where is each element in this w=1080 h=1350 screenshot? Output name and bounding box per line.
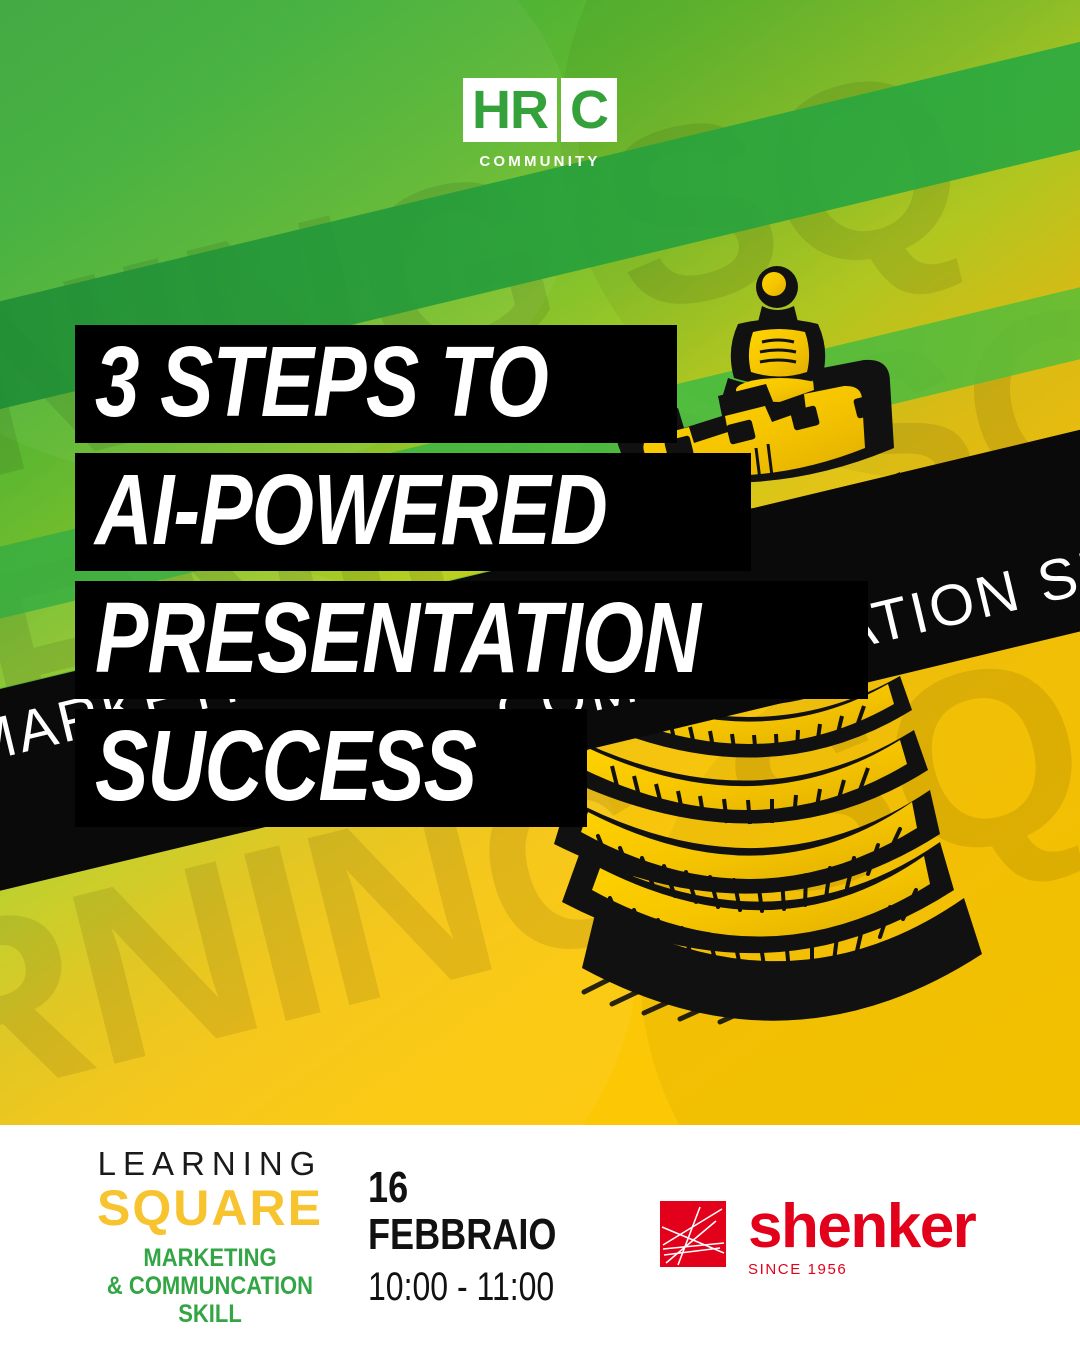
shenker-name: shenker — [748, 1197, 975, 1257]
headline-line-3: PRESENTATION — [75, 581, 868, 699]
hrc-logo: HR C COMMUNITY — [0, 78, 1080, 170]
learning-square-subtitle-line2: & COMMUNCATION SKILL — [78, 1272, 342, 1328]
headline-box: 3 STEPS TO — [75, 325, 677, 443]
event-date: 16 FEBBRAIO — [368, 1165, 599, 1257]
poster-footer: LEARNING SQUARE MARKETING & COMMUNCATION… — [0, 1125, 1080, 1350]
hrc-logo-tagline: COMMUNITY — [0, 153, 1080, 170]
learning-square-subtitle: MARKETING & COMMUNCATION SKILL — [60, 1244, 360, 1328]
poster-artwork: RNING SQ MARNING SQU ARNING SQ — [0, 0, 1080, 1125]
hrc-logo-box-c: C — [561, 78, 617, 142]
hrc-logo-marks: HR C — [463, 78, 617, 142]
learning-square-logo: LEARNING SQUARE MARKETING & COMMUNCATION… — [0, 1147, 360, 1328]
hrc-logo-text-c: C — [570, 83, 608, 137]
headline-line-4: SUCCESS — [75, 709, 868, 827]
headline: 3 STEPS TO AI-POWERED PRESENTATION SUCCE… — [75, 325, 868, 837]
event-time: 10:00 - 11:00 — [368, 1264, 594, 1310]
event-datetime: 16 FEBBRAIO 10:00 - 11:00 — [360, 1165, 650, 1309]
learning-square-subtitle-line1: MARKETING — [78, 1244, 342, 1272]
hrc-logo-text-hr: HR — [472, 83, 548, 137]
headline-line-2: AI-POWERED — [75, 453, 868, 571]
poster-canvas: RNING SQ MARNING SQU ARNING SQ — [0, 0, 1080, 1350]
hrc-logo-box-hr: HR — [463, 78, 557, 142]
headline-text-3: PRESENTATION — [95, 587, 700, 689]
headline-box: AI-POWERED — [75, 453, 751, 571]
headline-line-1: 3 STEPS TO — [75, 325, 868, 443]
shenker-since: SINCE 1956 — [748, 1261, 975, 1278]
headline-text-4: SUCCESS — [95, 715, 476, 817]
shenker-mark-icon — [660, 1201, 726, 1267]
headline-box: SUCCESS — [75, 709, 587, 827]
headline-text-1: 3 STEPS TO — [95, 331, 548, 433]
learning-square-word-bottom: SQUARE — [60, 1182, 360, 1235]
headline-box: PRESENTATION — [75, 581, 868, 699]
shenker-logo: shenker SINCE 1956 — [650, 1197, 975, 1278]
headline-text-2: AI-POWERED — [95, 459, 607, 561]
learning-square-word-top: LEARNING — [60, 1147, 360, 1180]
shenker-wordmark: shenker SINCE 1956 — [748, 1197, 975, 1278]
